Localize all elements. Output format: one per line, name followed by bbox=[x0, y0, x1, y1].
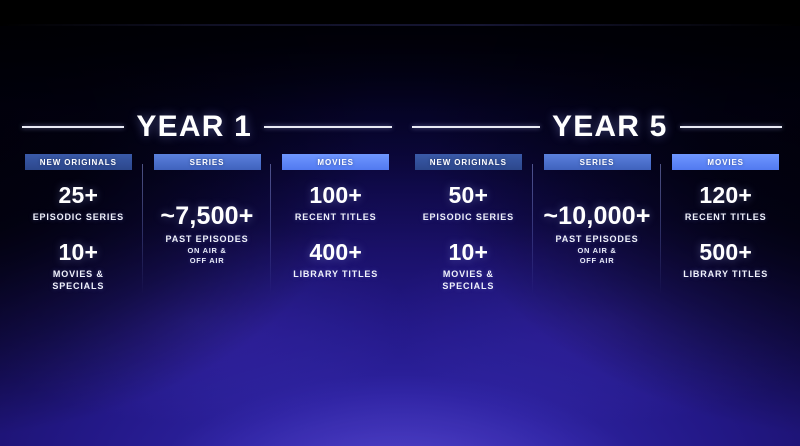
stat-label: MOVIES & SPECIALS bbox=[404, 269, 533, 292]
stat-sublabel: ON AIR & OFF AIR bbox=[143, 246, 272, 266]
stat-label: PAST EPISODES bbox=[143, 234, 272, 245]
stat-value: 25+ bbox=[14, 184, 143, 207]
stat-label: EPISODIC SERIES bbox=[404, 212, 533, 223]
slide-root: YEAR 1 NEW ORIGINALS 25+ EPISODIC SERIES… bbox=[0, 0, 800, 446]
stat-label: EPISODIC SERIES bbox=[14, 212, 143, 223]
category-header-movies-year-1: MOVIES bbox=[282, 154, 389, 170]
stat-label-line-1: MOVIES & bbox=[53, 269, 104, 279]
stat-block-recent-titles-year-5: 120+ RECENT TITLES bbox=[661, 184, 790, 223]
stat-block-library-titles-year-1: 400+ LIBRARY TITLES bbox=[271, 241, 400, 280]
infographic-content: YEAR 1 NEW ORIGINALS 25+ EPISODIC SERIES… bbox=[0, 0, 800, 446]
stat-value: 100+ bbox=[271, 184, 400, 207]
stat-label: LIBRARY TITLES bbox=[271, 269, 400, 280]
column-series-year-5: SERIES ~10,000+ PAST EPISODES ON AIR & O… bbox=[533, 154, 662, 299]
stat-sublabel-line-2: OFF AIR bbox=[190, 256, 225, 265]
category-header-series-year-5: SERIES bbox=[544, 154, 651, 170]
stat-block-recent-titles-year-1: 100+ RECENT TITLES bbox=[271, 184, 400, 223]
category-header-new-originals-year-1: NEW ORIGINALS bbox=[25, 154, 132, 170]
stat-label: PAST EPISODES bbox=[533, 234, 662, 245]
stat-label-line-2: SPECIALS bbox=[52, 281, 104, 291]
column-movies-year-1: MOVIES 100+ RECENT TITLES 400+ LIBRARY T… bbox=[271, 154, 400, 299]
stat-sublabel-line-2: OFF AIR bbox=[580, 256, 615, 265]
title-rule-right bbox=[680, 126, 782, 128]
stat-label: RECENT TITLES bbox=[661, 212, 790, 223]
category-header-new-originals-year-5: NEW ORIGINALS bbox=[415, 154, 522, 170]
stat-value: ~7,500+ bbox=[143, 204, 272, 229]
stat-label: RECENT TITLES bbox=[271, 212, 400, 223]
column-new-originals-year-5: NEW ORIGINALS 50+ EPISODIC SERIES 10+ MO… bbox=[404, 154, 533, 299]
stat-block-library-titles-year-5: 500+ LIBRARY TITLES bbox=[661, 241, 790, 280]
category-header-series-year-1: SERIES bbox=[154, 154, 261, 170]
stat-label: MOVIES & SPECIALS bbox=[14, 269, 143, 292]
stat-block-episodic-series-year-5: 50+ EPISODIC SERIES bbox=[404, 184, 533, 223]
stat-block-past-episodes-year-5: ~10,000+ PAST EPISODES ON AIR & OFF AIR bbox=[533, 204, 662, 266]
stat-value: 120+ bbox=[661, 184, 790, 207]
stat-sublabel-line-1: ON AIR & bbox=[187, 246, 226, 255]
title-rule-left bbox=[22, 126, 124, 128]
stat-value: 50+ bbox=[404, 184, 533, 207]
stat-value: ~10,000+ bbox=[533, 204, 662, 229]
category-header-movies-year-5: MOVIES bbox=[672, 154, 779, 170]
stat-value: 10+ bbox=[404, 241, 533, 264]
stat-sublabel: ON AIR & OFF AIR bbox=[533, 246, 662, 266]
column-series-year-1: SERIES ~7,500+ PAST EPISODES ON AIR & OF… bbox=[143, 154, 272, 299]
column-movies-year-5: MOVIES 120+ RECENT TITLES 500+ LIBRARY T… bbox=[661, 154, 790, 299]
year-1-columns: NEW ORIGINALS 25+ EPISODIC SERIES 10+ MO… bbox=[14, 154, 400, 299]
stat-sublabel-line-1: ON AIR & bbox=[577, 246, 616, 255]
year-5-title-row: YEAR 5 bbox=[404, 110, 790, 144]
stat-block-episodic-series-year-1: 25+ EPISODIC SERIES bbox=[14, 184, 143, 223]
stat-label-line-1: MOVIES & bbox=[443, 269, 494, 279]
stat-value: 400+ bbox=[271, 241, 400, 264]
stat-value: 10+ bbox=[14, 241, 143, 264]
year-1-panel: YEAR 1 NEW ORIGINALS 25+ EPISODIC SERIES… bbox=[14, 110, 400, 300]
stat-block-movies-specials-year-5: 10+ MOVIES & SPECIALS bbox=[404, 241, 533, 292]
year-5-panel: YEAR 5 NEW ORIGINALS 50+ EPISODIC SERIES… bbox=[404, 110, 790, 300]
column-new-originals-year-1: NEW ORIGINALS 25+ EPISODIC SERIES 10+ MO… bbox=[14, 154, 143, 299]
year-1-title: YEAR 1 bbox=[136, 112, 252, 142]
stat-block-movies-specials-year-1: 10+ MOVIES & SPECIALS bbox=[14, 241, 143, 292]
year-1-title-row: YEAR 1 bbox=[14, 110, 400, 144]
stat-block-past-episodes-year-1: ~7,500+ PAST EPISODES ON AIR & OFF AIR bbox=[143, 204, 272, 266]
year-5-title: YEAR 5 bbox=[552, 112, 668, 142]
stat-value: 500+ bbox=[661, 241, 790, 264]
title-rule-right bbox=[264, 126, 392, 128]
year-5-columns: NEW ORIGINALS 50+ EPISODIC SERIES 10+ MO… bbox=[404, 154, 790, 299]
title-rule-left bbox=[412, 126, 540, 128]
stat-label-line-2: SPECIALS bbox=[442, 281, 494, 291]
stat-label: LIBRARY TITLES bbox=[661, 269, 790, 280]
